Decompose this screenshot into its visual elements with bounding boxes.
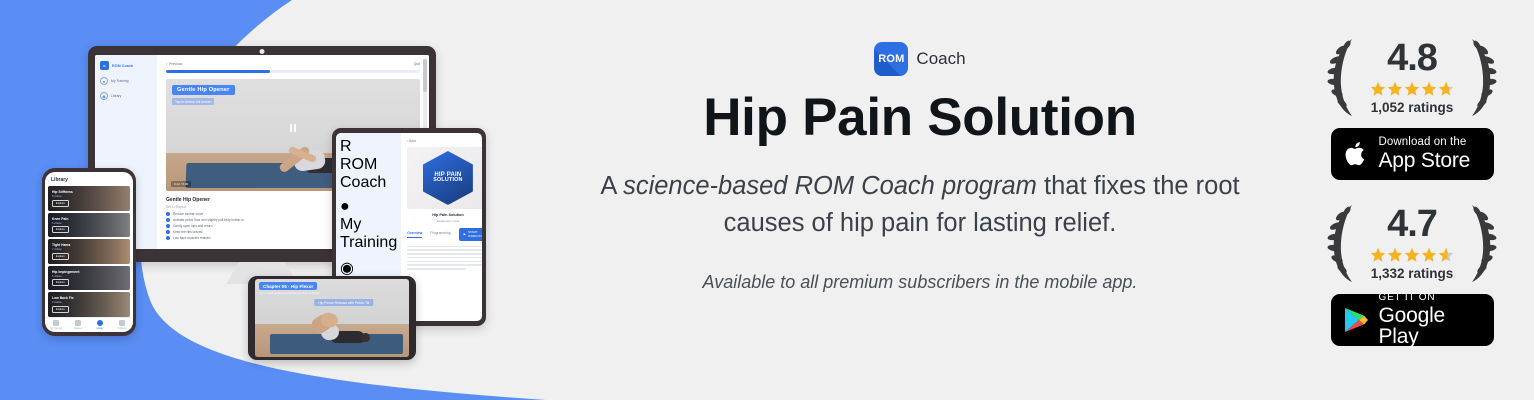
progress-icon	[119, 320, 125, 326]
start-workout-button[interactable]: ▶ START WORKOUT	[459, 228, 482, 241]
desktop-brand: R ROM Coach	[100, 61, 152, 70]
webcam-dot	[260, 49, 265, 54]
rating-score: 4.8	[1387, 39, 1437, 77]
explore-button[interactable]: Explore	[52, 253, 69, 260]
program-title: Hip Pain Solution	[407, 213, 482, 217]
tab-programming[interactable]: Programming	[430, 231, 450, 237]
card-subtitle: 8 videos	[52, 195, 62, 198]
phone-landscape-screen: Chapter 06 - Hip Flexor Lie on back, kne…	[255, 279, 409, 357]
availability-note: Available to all premium subscribers in …	[703, 272, 1138, 293]
card-subtitle: 7 videos	[52, 248, 62, 251]
card-subtitle: 9 videos	[52, 301, 62, 304]
tab-classes[interactable]: Classes	[67, 318, 89, 332]
exercise-title: Gentle Hip Opener	[166, 197, 328, 203]
card-subtitle: 5 videos	[52, 275, 62, 278]
tablet-brand: R ROM Coach	[340, 138, 397, 192]
hero-subtitle: A science-based ROM Coach program that f…	[560, 168, 1280, 242]
library-icon: ◉	[100, 92, 108, 100]
list-item: Reduce lumbar curve	[166, 212, 328, 216]
tablet-brand-label: ROM Coach	[340, 156, 397, 192]
tab-library[interactable]: Library	[89, 318, 111, 332]
card-title: Knee Pain	[52, 217, 68, 221]
list-item[interactable]: Hip Stiffness 8 videos Explore	[48, 186, 130, 211]
bullet-icon	[166, 218, 170, 222]
rating-content: 4.7 1,332 ratings	[1360, 205, 1464, 281]
card-title: Hip Impingement	[52, 270, 80, 274]
phone-landscape-mockup: Chapter 06 - Hip Flexor Lie on back, kne…	[248, 276, 416, 360]
program-meta: Equipment: none	[407, 219, 482, 223]
list-item[interactable]: Low Back Fix 9 videos Explore	[48, 292, 130, 317]
list-item: Low back muscles relaxed	[166, 236, 328, 240]
chapter-sub-lines: Lie on back, knees bent Draw one knee to…	[259, 291, 319, 295]
bullet-icon	[166, 236, 170, 240]
laurel-left-icon	[1326, 202, 1360, 284]
chevron-left-icon: ‹	[166, 62, 167, 66]
star-icon	[1421, 81, 1437, 97]
subline-part1: A	[600, 172, 623, 200]
exercise-info: Gentle Hip Opener Set 1 / Reps 8 Reduce …	[166, 197, 328, 240]
back-button[interactable]: ‹ Back	[407, 139, 482, 143]
list-item: Gently open hips and return	[166, 224, 328, 228]
hero-content: ROM Coach Hip Pain Solution A science-ba…	[560, 0, 1280, 400]
google-play-labels: GET IT ON Google Play	[1379, 293, 1484, 347]
rating-count: 1,052 ratings	[1371, 100, 1454, 115]
logo-mark-text: ROM	[878, 53, 904, 65]
dumbbell-icon: ●	[100, 77, 108, 85]
hero-banner: R ROM Coach ● My Training ◉ Library	[0, 0, 1534, 400]
list-item[interactable]: Knee Pain 6 videos Explore	[48, 213, 130, 238]
rom-logo-icon: ROM	[874, 42, 908, 76]
card-title: Hip Stiffness	[52, 190, 73, 194]
star-rating	[1370, 247, 1454, 263]
video-caption: Hip Flexor Release with Pelvic Tilt	[314, 299, 373, 306]
bullet-icon	[166, 212, 170, 216]
previous-button[interactable]: ‹ Previous	[166, 62, 182, 66]
library-icon	[97, 320, 103, 326]
laurel-right-icon	[1464, 202, 1498, 284]
sidebar-item-library[interactable]: ◉ Library	[100, 92, 152, 100]
page-title: Library	[45, 172, 133, 186]
bullet-icon	[166, 230, 170, 234]
google-play-icon	[1341, 303, 1371, 337]
video-sub-badge: Tap to unlock full screen	[172, 98, 214, 105]
scrollbar-thumb[interactable]	[423, 59, 427, 92]
star-icon	[1387, 247, 1403, 263]
video-person	[301, 302, 366, 343]
app-store-labels: Download on the App Store	[1379, 137, 1471, 172]
video-timestamp: 0:12 / 0:30	[171, 181, 191, 187]
ratings-column: 4.8 1,052 ratings	[1312, 0, 1512, 400]
rating-content: 4.8 1,052 ratings	[1360, 39, 1464, 115]
bullet-icon	[166, 224, 170, 228]
tab-progress[interactable]: Progress	[111, 318, 133, 332]
star-icon	[1421, 247, 1437, 263]
app-store-button[interactable]: Download on the App Store	[1331, 128, 1494, 180]
badge-line-2: SOLUTION	[433, 178, 462, 184]
app-store-small-label: Download on the	[1379, 137, 1471, 149]
chapter-badge: Chapter 06 - Hip Flexor	[259, 282, 317, 290]
star-rating	[1370, 81, 1454, 97]
workout-progress-fill	[166, 70, 270, 73]
sidebar-item-library-label: Library	[111, 94, 121, 98]
explore-button[interactable]: Explore	[52, 306, 69, 313]
brand-logo: ROM Coach	[874, 42, 965, 76]
quit-button[interactable]: Quit	[414, 62, 420, 66]
star-icon	[1404, 247, 1420, 263]
hip-pain-solution-badge: HIP PAIN SOLUTION	[419, 151, 477, 205]
device-mockup-cluster: R ROM Coach ● My Training ◉ Library	[0, 0, 560, 400]
star-icon-partial	[1438, 247, 1454, 263]
app-store-big-label: App Store	[1379, 150, 1471, 171]
classes-icon	[75, 320, 81, 326]
program-tabs: Overview Programming ▶ START WORKOUT	[407, 228, 482, 241]
subline-emphasis: science-based ROM Coach program	[623, 172, 1037, 200]
list-item: Keep the ribs braced	[166, 230, 328, 234]
exercise-cue-list: Reduce lumbar curve Activate pelvic floo…	[166, 212, 328, 240]
rating-badge-android: 4.7 1,332 ratings	[1326, 202, 1498, 284]
phone-portrait-mockup: Library Hip Stiffness 8 videos Explore K…	[42, 168, 136, 336]
explore-button[interactable]: Explore	[52, 200, 69, 207]
laurel-left-icon	[1326, 36, 1360, 118]
rom-logo-icon: R	[100, 61, 109, 70]
star-icon	[1404, 81, 1420, 97]
page-title: Hip Pain Solution	[703, 90, 1137, 146]
logo-word: Coach	[916, 49, 965, 69]
rating-score: 4.7	[1387, 205, 1437, 243]
star-icon-partial	[1438, 81, 1454, 97]
video-exercise-badge: Gentle Hip Opener	[172, 85, 235, 95]
phone-screen: Library Hip Stiffness 8 videos Explore K…	[45, 172, 133, 332]
rating-count: 1,332 ratings	[1371, 266, 1454, 281]
star-icon	[1370, 247, 1386, 263]
explore-button[interactable]: Explore	[52, 226, 69, 233]
explore-button[interactable]: Explore	[52, 279, 69, 286]
workout-progress-bar	[166, 70, 420, 73]
card-subtitle: 6 videos	[52, 222, 62, 225]
card-title: Tight Hams	[52, 243, 70, 247]
library-card-list: Hip Stiffness 8 videos Explore Knee Pain…	[45, 186, 133, 317]
star-icon	[1370, 81, 1386, 97]
card-title: Low Back Fix	[52, 296, 74, 300]
program-hero-image: HIP PAIN SOLUTION	[407, 147, 482, 209]
tab-my-training[interactable]: My Training	[45, 318, 67, 332]
google-play-small-label: GET IT ON	[1379, 293, 1484, 303]
previous-label: Previous	[169, 62, 182, 66]
list-item: Activate pelvic floor and slightly pull …	[166, 218, 328, 222]
sidebar-item-my-training-label: My Training	[111, 79, 129, 83]
sidebar-item-my-training[interactable]: ● My Training	[340, 198, 397, 252]
program-description	[407, 246, 482, 270]
desktop-topbar: ‹ Previous Quit	[166, 62, 420, 66]
bottom-tab-bar: My Training Classes Library Progress	[45, 317, 133, 332]
library-icon: ◉	[340, 258, 397, 278]
rom-logo-icon: R	[340, 138, 397, 156]
laurel-right-icon	[1464, 36, 1498, 118]
star-icon	[1387, 81, 1403, 97]
dumbbell-icon: ●	[340, 198, 397, 216]
rating-badge-ios: 4.8 1,052 ratings	[1326, 36, 1498, 118]
exercise-meta: Set 1 / Reps 8	[166, 205, 328, 209]
sidebar-item-my-training[interactable]: ● My Training	[100, 77, 152, 85]
list-item[interactable]: Tight Hams 7 videos Explore	[48, 239, 130, 264]
google-play-button[interactable]: GET IT ON Google Play	[1331, 294, 1494, 346]
training-icon	[53, 320, 59, 326]
tab-overview[interactable]: Overview	[407, 231, 422, 238]
google-play-big-label: Google Play	[1379, 305, 1484, 347]
desktop-brand-label: ROM Coach	[112, 64, 133, 68]
list-item[interactable]: Hip Impingement 5 videos Explore	[48, 266, 130, 291]
apple-icon	[1341, 137, 1371, 171]
pause-icon[interactable]	[290, 124, 296, 132]
play-icon: ▶	[464, 232, 466, 236]
